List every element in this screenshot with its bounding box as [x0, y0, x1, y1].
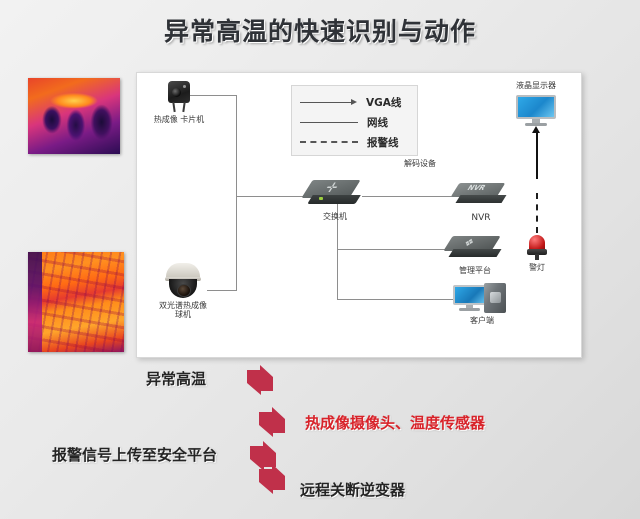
wire-ptz-to-bus [207, 290, 237, 291]
legend-label-network: 网线 [367, 115, 388, 130]
label-dual-spectrum-ptz-camera: 双光谱热成像 球机 [159, 301, 207, 319]
thermal-photo-solar-array [28, 252, 124, 352]
client-workstation-icon [453, 283, 511, 315]
page-title: 异常高温的快速识别与动作 [0, 12, 640, 48]
legend-label-vga: VGA线 [366, 95, 401, 110]
legend-line-solid-arrow-icon [300, 102, 352, 103]
flow-step-remote-shutdown-inverter: 远程关断逆变器 [300, 479, 405, 500]
flow-arrow-4-icon [255, 463, 289, 497]
node-client-workstation: 客户端 [453, 283, 511, 315]
node-thermal-card-camera: 热成像 卡片机 [165, 81, 193, 113]
flow-arrow-2-icon [255, 406, 289, 440]
network-topology-diagram: VGA线 网线 报警线 热成像 卡片机 双光谱热成像 球机 [136, 72, 582, 358]
node-switch: ✛ 交换机 [307, 180, 363, 210]
lcd-monitor-icon [516, 95, 556, 127]
wire-bus-to-switch [236, 196, 307, 197]
node-dual-spectrum-ptz-camera: 双光谱热成像 球机 [163, 263, 203, 299]
alarm-beacon-icon [527, 235, 547, 261]
management-platform-icon: ❖ [448, 236, 502, 262]
thermal-photo-equipment [28, 78, 120, 154]
ptz-dome-camera-icon [163, 263, 203, 299]
wire-vga-nvr-to-monitor [536, 133, 538, 179]
legend-item-network: 网线 [300, 115, 388, 129]
flow-step-abnormal-high-temp: 异常高温 [146, 368, 206, 389]
diagram-legend: VGA线 网线 报警线 [291, 85, 418, 156]
legend-line-dashed-icon [300, 141, 358, 143]
label-management-platform: 管理平台 [459, 266, 491, 275]
label-nvr: NVR [471, 213, 490, 223]
node-nvr: NVR NVR [455, 183, 507, 209]
legend-line-solid-icon [300, 122, 358, 123]
label-thermal-card-camera: 热成像 卡片机 [154, 115, 205, 124]
wire-to-client [337, 299, 453, 300]
node-lcd-monitor: 液晶显示器 [516, 95, 556, 127]
label-client-workstation: 客户端 [470, 316, 494, 325]
legend-arrowhead-icon [351, 99, 357, 105]
network-switch-icon: ✛ [307, 180, 363, 210]
legend-item-alarm: 报警线 [300, 135, 399, 149]
slide-root: 异常高温的快速识别与动作 VGA线 [0, 0, 640, 519]
label-lcd-monitor: 液晶显示器 [516, 81, 556, 90]
node-management-platform: ❖ 管理平台 [448, 236, 502, 262]
flow-arrow-1-icon [243, 364, 277, 398]
node-alarm-beacon: 警灯 [527, 235, 547, 261]
legend-item-vga: VGA线 [300, 95, 401, 109]
vga-arrowhead-icon [532, 126, 540, 133]
wire-switch-to-nvr [362, 196, 455, 197]
flow-step-alarm-upload: 报警信号上传至安全平台 [52, 444, 217, 465]
wire-left-bus-vertical [236, 95, 237, 290]
label-switch: 交换机 [323, 212, 347, 221]
wire-to-management-platform [337, 249, 448, 250]
wire-alarm-to-beacon [536, 193, 538, 233]
legend-label-alarm: 报警线 [367, 135, 399, 150]
thermal-card-camera-icon [165, 81, 193, 113]
label-alarm-beacon: 警灯 [529, 263, 545, 272]
flow-step-thermal-camera-sensor: 热成像摄像头、温度传感器 [305, 412, 485, 433]
label-decoder: 解码设备 [404, 159, 436, 168]
nvr-icon: NVR [455, 183, 507, 209]
